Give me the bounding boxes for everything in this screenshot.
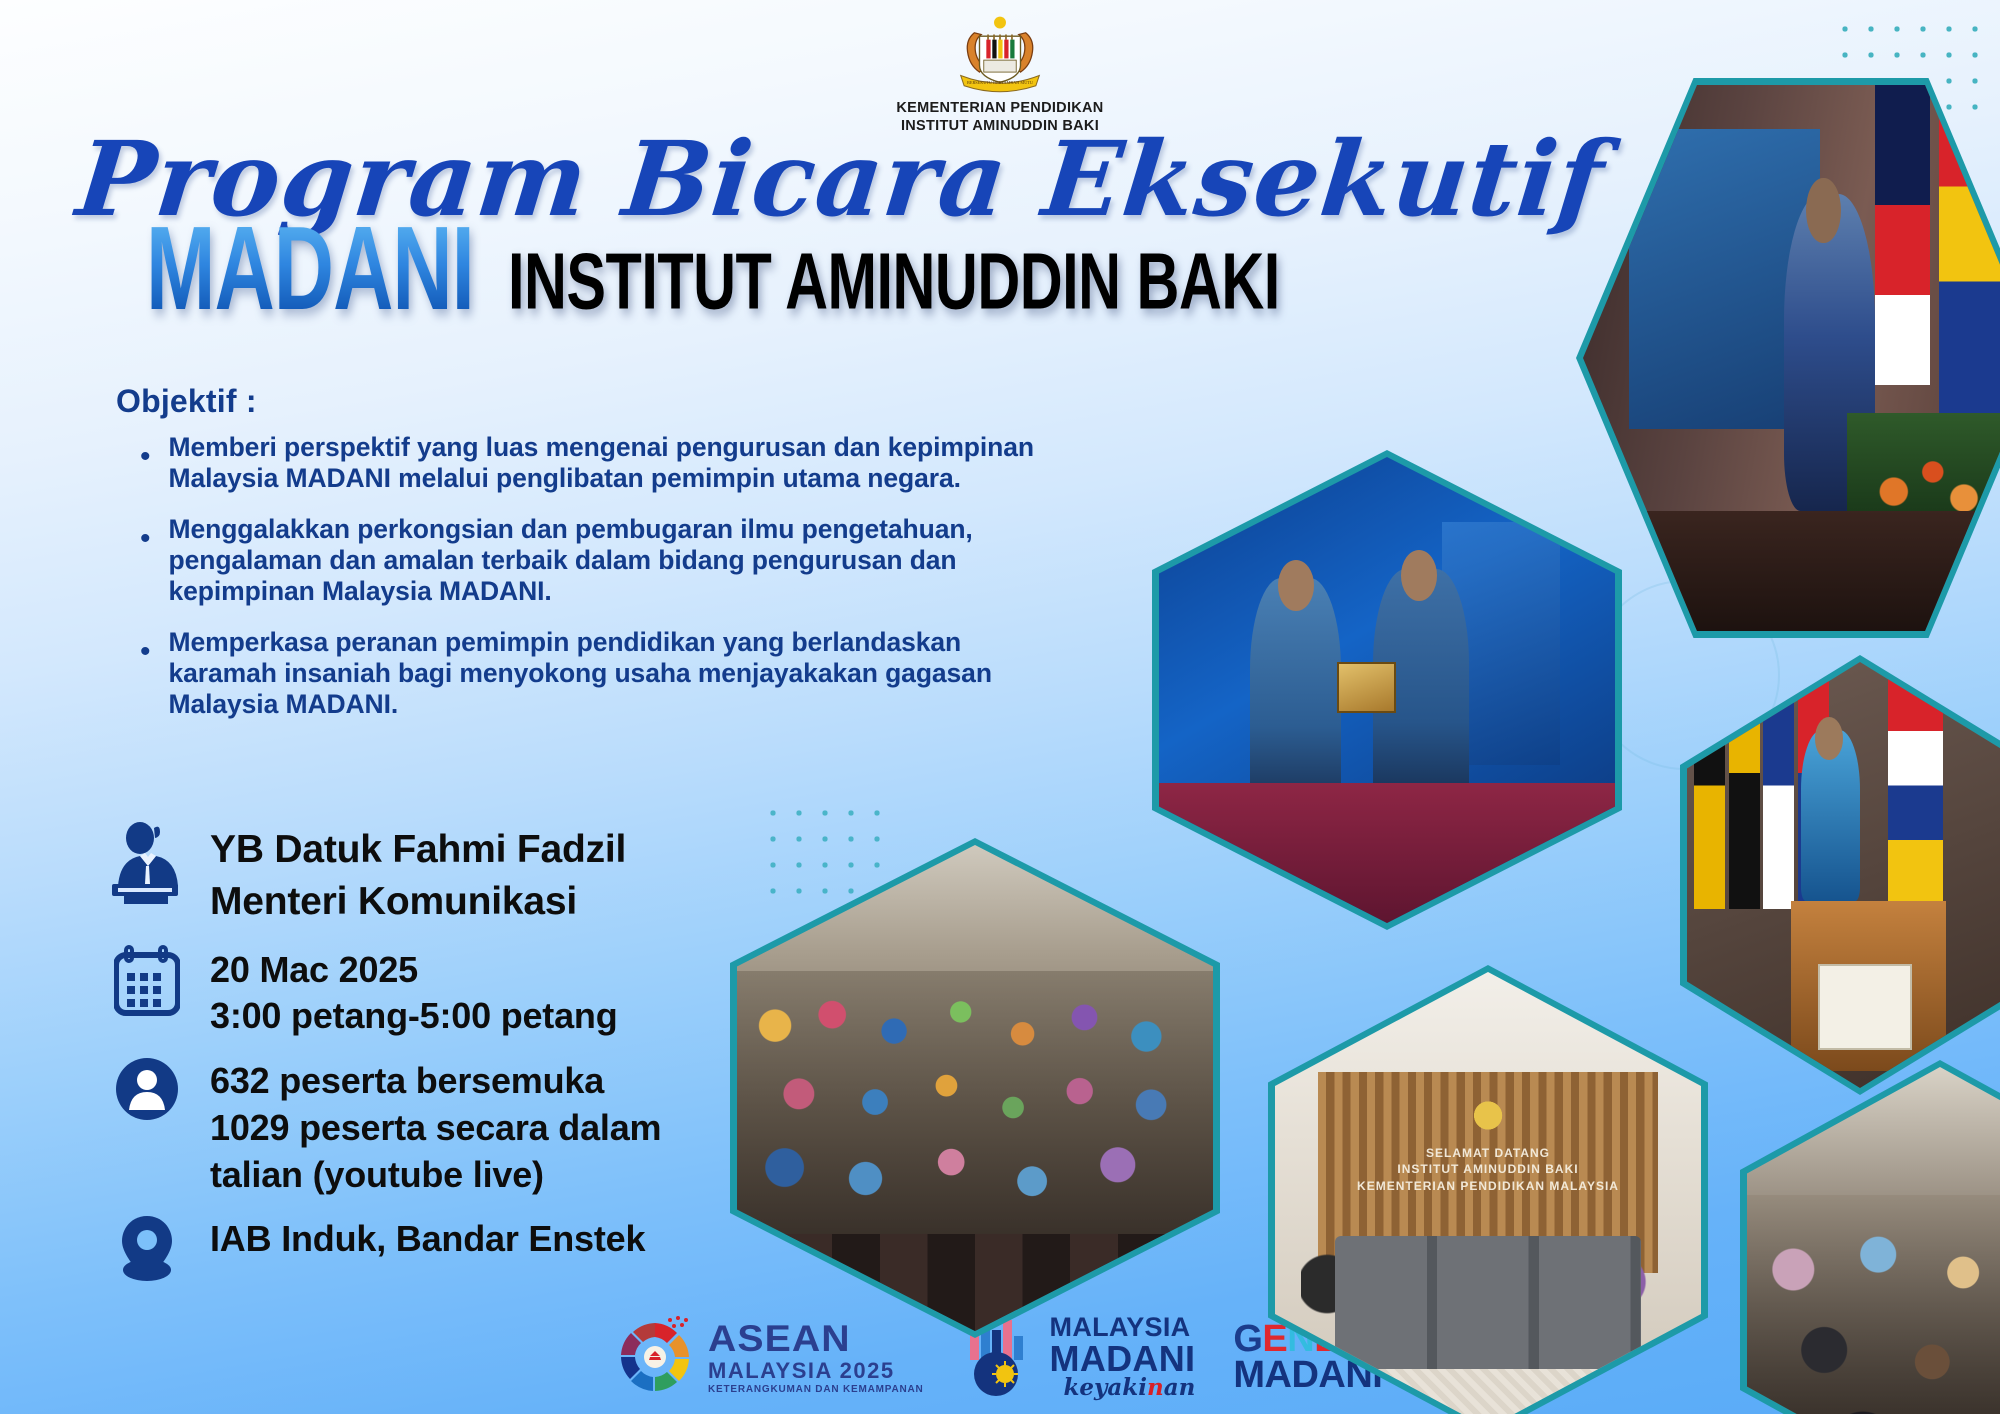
welcome-line-3: KEMENTERIAN PENDIDIKAN MALAYSIA: [1357, 1178, 1619, 1194]
location-pin-icon-wrap: [108, 1214, 186, 1286]
calendar-icon: [114, 945, 180, 1017]
title-institute: INSTITUT AMINUDDIN BAKI: [508, 235, 1280, 327]
objective-item: • Memberi perspektif yang luas mengenai …: [140, 432, 1070, 494]
speaker-name: YB Datuk Fahmi Fadzil: [210, 824, 626, 876]
welcome-banner-text: SELAMAT DATANG INSTITUT AMINUDDIN BAKI K…: [1357, 1145, 1619, 1194]
mm-n: n: [1147, 1374, 1164, 1401]
event-time: 3:00 petang-5:00 petang: [210, 993, 618, 1040]
participants-text: 632 peserta bersemuka 1029 peserta secar…: [210, 1056, 661, 1198]
bullet-icon: •: [140, 442, 151, 494]
asean-text: ASEAN MALAYSIA 2025 KETERANGKUMAN DAN KE…: [708, 1320, 924, 1395]
asean-line-2: MALAYSIA 2025: [708, 1360, 924, 1382]
person-icon: [114, 1056, 180, 1122]
page-title-row: MADANI INSTITUT AMINUDDIN BAKI: [146, 245, 1288, 327]
speaker-podium-icon: [110, 822, 184, 906]
asean-line-3: KETERANGKUMAN DAN KEMAMPANAN: [708, 1385, 924, 1395]
date-text: 20 Mac 2025 3:00 petang-5:00 petang: [210, 945, 618, 1041]
venue-name: IAB Induk, Bandar Enstek: [210, 1216, 645, 1263]
speaker-podium-icon-wrap: [108, 822, 186, 906]
photo-audience-closeup: [1740, 1060, 2000, 1414]
detail-row-venue: IAB Induk, Bandar Enstek: [108, 1214, 808, 1286]
participants-onsite: 632 peserta bersemuka: [210, 1058, 661, 1105]
objectives-list: • Memberi perspektif yang luas mengenai …: [140, 432, 1070, 740]
event-date: 20 Mac 2025: [210, 947, 618, 994]
bullet-icon: •: [140, 637, 151, 720]
objectives-heading: Objektif :: [116, 383, 257, 420]
speaker-text: YB Datuk Fahmi Fadzil Menteri Komunikasi: [210, 822, 626, 929]
venue-text: IAB Induk, Bandar Enstek: [210, 1214, 645, 1263]
poster-canvas: BERSEKUTU BERTAMBAH MUTU KEMENTERIAN PEN…: [0, 0, 2000, 1414]
speaker-role: Menteri Komunikasi: [210, 876, 626, 928]
mm-an: an: [1164, 1374, 1196, 1401]
photo-minister-on-stage: [1576, 78, 2000, 638]
ministry-line-1: KEMENTERIAN PENDIDIKAN: [896, 100, 1103, 118]
malaysia-madani-text: MALAYSIA MADANI keyakinan: [1050, 1314, 1196, 1399]
bullet-icon: •: [140, 524, 151, 607]
participants-online-cont: talian (youtube live): [210, 1152, 661, 1199]
asean-swirl-icon: [612, 1314, 698, 1400]
asean-line-1: ASEAN: [708, 1320, 936, 1357]
logo-asean: ASEAN MALAYSIA 2025 KETERANGKUMAN DAN KE…: [612, 1314, 924, 1400]
objective-text: Memberi perspektif yang luas mengenai pe…: [169, 432, 1070, 494]
event-details-block: YB Datuk Fahmi Fadzil Menteri Komunikasi: [108, 822, 808, 1302]
location-pin-icon: [114, 1214, 180, 1286]
detail-row-date: 20 Mac 2025 3:00 petang-5:00 petang: [108, 945, 808, 1041]
objective-text: Memperkasa peranan pemimpin pendidikan y…: [169, 627, 1070, 720]
participants-online: 1029 peserta secara dalam: [210, 1105, 661, 1152]
objective-item: • Menggalakkan perkongsian dan pembugara…: [140, 514, 1070, 607]
person-icon-wrap: [108, 1056, 186, 1122]
malaysia-coat-of-arms-icon: BERSEKUTU BERTAMBAH MUTU: [948, 14, 1052, 96]
photo-group-selamat-datang: SELAMAT DATANG INSTITUT AMINUDDIN BAKI K…: [1268, 965, 1708, 1414]
mm-keyaki: keyaki: [1063, 1374, 1147, 1401]
mm-line-3: keyakinan: [1063, 1377, 1195, 1400]
photo-speaker-at-podium: [1680, 655, 2000, 1095]
title-madani: MADANI: [146, 215, 474, 324]
welcome-line-1: SELAMAT DATANG: [1357, 1145, 1619, 1161]
objective-text: Menggalakkan perkongsian dan pembugaran …: [169, 514, 1070, 607]
detail-row-participants: 632 peserta bersemuka 1029 peserta secar…: [108, 1056, 808, 1198]
detail-row-speaker: YB Datuk Fahmi Fadzil Menteri Komunikasi: [108, 822, 808, 929]
mm-line-2: MADANI: [1050, 1341, 1196, 1376]
calendar-icon-wrap: [108, 945, 186, 1017]
logo-malaysia-madani: MALAYSIA MADANI keyakinan: [962, 1314, 1196, 1399]
svg-text:BERSEKUTU BERTAMBAH MUTU: BERSEKUTU BERTAMBAH MUTU: [967, 80, 1033, 85]
objective-item: • Memperkasa peranan pemimpin pendidikan…: [140, 627, 1070, 720]
mm-line-1: MALAYSIA: [1050, 1314, 1196, 1340]
welcome-line-2: INSTITUT AMINUDDIN BAKI: [1357, 1161, 1619, 1177]
photo-plaque-handover: [1152, 450, 1622, 930]
